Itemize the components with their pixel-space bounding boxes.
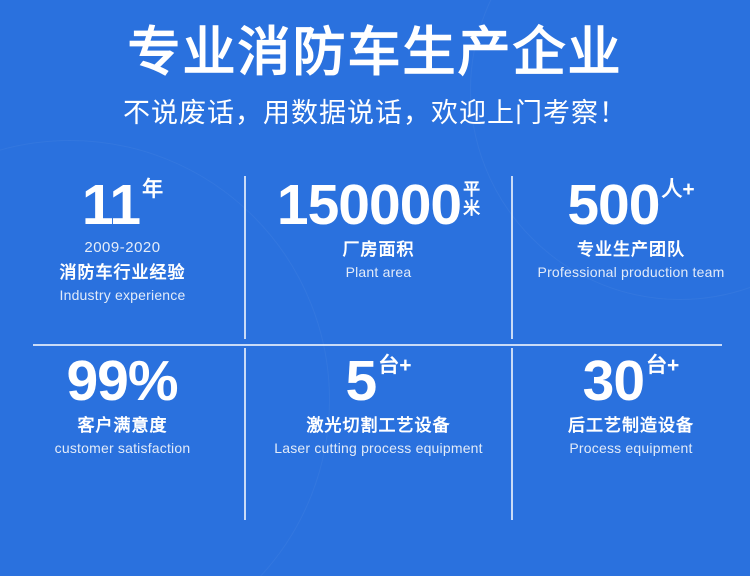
stat-number: 11 [82,176,140,234]
stat-cell-laser-cutting: 5 台+ 激光切割工艺设备 Laser cutting process equi… [245,338,512,514]
divider-vertical-1-top [244,176,246,339]
banner-header: 专业消防车生产企业 不说废话，用数据说话，欢迎上门考察！ [0,0,750,130]
stat-cell-process-equipment: 30 台+ 后工艺制造设备 Process equipment [512,338,750,514]
stat-value: 5 台+ [346,352,412,410]
stat-label-en: Plant area [346,263,412,281]
stat-number: 30 [583,352,644,410]
stat-unit: 平 米 [463,176,480,218]
divider-vertical-2-bottom [511,348,513,520]
stat-unit: % [128,352,179,410]
stat-cell-industry-experience: 11 年 2009-2020 消防车行业经验 Industry experien… [0,162,245,338]
page-subtitle: 不说废话，用数据说话，欢迎上门考察！ [0,96,750,130]
stat-unit: 人+ [661,176,694,201]
divider-horizontal [33,344,722,346]
page-title: 专业消防车生产企业 [0,22,750,84]
stat-label-en: Process equipment [569,439,692,457]
stat-label-cn: 专业生产团队 [577,239,685,261]
stat-number: 500 [567,176,659,234]
stats-row: 99 % 客户满意度 customer satisfaction 5 台+ 激光… [0,338,750,514]
stat-label-en: Professional production team [538,263,725,281]
stat-label-cn: 客户满意度 [78,415,168,437]
stat-cell-customer-satisfaction: 99 % 客户满意度 customer satisfaction [0,338,245,514]
stat-unit: 年 [142,176,163,201]
divider-vertical-1-bottom [244,348,246,520]
stat-number: 5 [346,352,377,410]
stats-grid: 11 年 2009-2020 消防车行业经验 Industry experien… [0,162,750,514]
stat-label-en: Laser cutting process equipment [274,439,483,457]
stat-value: 11 年 [82,176,163,234]
stat-range: 2009-2020 [84,239,160,257]
stat-number: 99 [66,352,127,410]
stat-value: 150000 平 米 [277,176,480,234]
stat-value: 30 台+ [583,352,680,410]
stat-value: 99 % [66,352,178,410]
stat-cell-plant-area: 150000 平 米 厂房面积 Plant area [245,162,512,338]
stat-unit: 台+ [378,352,411,377]
stats-row: 11 年 2009-2020 消防车行业经验 Industry experien… [0,162,750,338]
stat-cell-production-team: 500 人+ 专业生产团队 Professional production te… [512,162,750,338]
stat-label-cn: 消防车行业经验 [60,262,186,284]
stat-unit-char-2: 米 [463,199,480,218]
stat-unit: 台+ [646,352,679,377]
stat-number: 150000 [277,176,461,234]
stat-label-en: Industry experience [60,286,186,304]
stat-unit-char-1: 平 [463,180,480,199]
stat-label-cn: 后工艺制造设备 [568,415,694,437]
stat-label-cn: 厂房面积 [343,239,415,261]
stat-value: 500 人+ [567,176,694,234]
promo-banner: 专业消防车生产企业 不说废话，用数据说话，欢迎上门考察！ 11 年 2009-2… [0,0,750,576]
stat-label-en: customer satisfaction [55,439,191,457]
divider-vertical-2-top [511,176,513,339]
stat-label-cn: 激光切割工艺设备 [307,415,451,437]
